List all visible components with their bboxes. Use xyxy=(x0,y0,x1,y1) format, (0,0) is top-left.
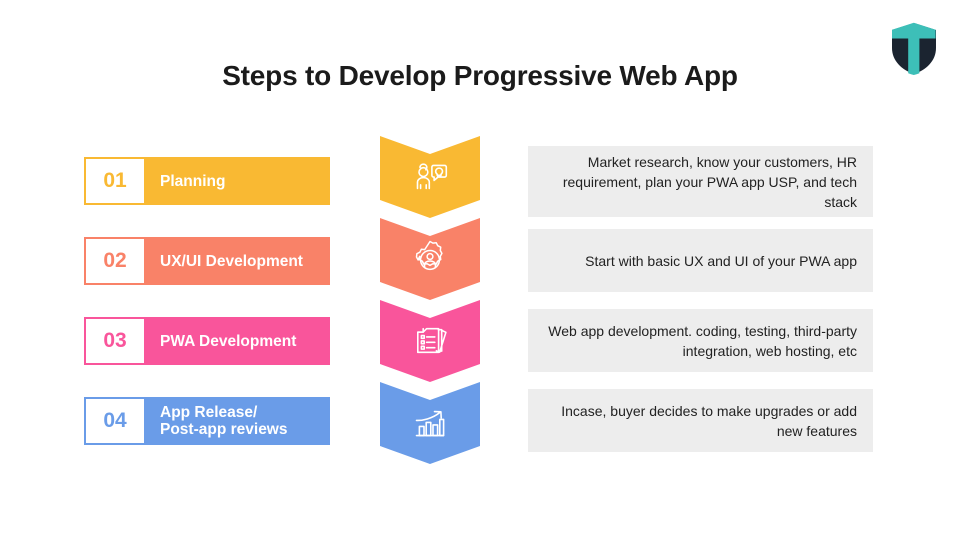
description-panel-2: Start with basic UX and UI of your PWA a… xyxy=(528,229,873,292)
step-label-1-line-1: Planning xyxy=(160,173,225,190)
step-card-1[interactable]: 01 Planning xyxy=(84,157,330,205)
step-number-box-2: 02 xyxy=(84,237,146,285)
step-card-3[interactable]: 03 PWA Development xyxy=(84,317,330,365)
chevron-step-3 xyxy=(380,300,480,382)
description-text-2: Start with basic UX and UI of your PWA a… xyxy=(585,251,857,271)
step-number-3: 03 xyxy=(103,329,126,353)
step-label-box-1: Planning xyxy=(146,157,330,205)
step-number-box-4: 04 xyxy=(84,397,146,445)
step-number-1: 01 xyxy=(103,169,126,193)
description-panel-1: Market research, know your customers, HR… xyxy=(528,146,873,217)
step-label-box-3: PWA Development xyxy=(146,317,330,365)
description-panel-4: Incase, buyer decides to make upgrades o… xyxy=(528,389,873,452)
step-number-box-1: 01 xyxy=(84,157,146,205)
person-gear-icon xyxy=(407,237,453,283)
step-label-4-line-2: Post-app reviews xyxy=(160,421,288,438)
description-text-1: Market research, know your customers, HR… xyxy=(544,152,857,212)
description-panel-3: Web app development. coding, testing, th… xyxy=(528,309,873,372)
description-text-4: Incase, buyer decides to make upgrades o… xyxy=(544,401,857,441)
step-card-2[interactable]: 02 UX/UI Development xyxy=(84,237,330,285)
step-label-box-4: App Release/ Post-app reviews xyxy=(146,397,330,445)
step-number-4: 04 xyxy=(103,409,126,433)
checklist-documents-icon xyxy=(407,319,453,365)
person-idea-icon xyxy=(407,155,453,201)
step-label-3-line-1: PWA Development xyxy=(160,333,296,350)
chevron-step-1 xyxy=(380,136,480,218)
chevron-ribbon xyxy=(380,136,480,460)
step-number-2: 02 xyxy=(103,249,126,273)
chevron-step-2 xyxy=(380,218,480,300)
step-label-2-line-1: UX/UI Development xyxy=(160,253,303,270)
slide-canvas: Steps to Develop Progressive Web App 01 … xyxy=(0,0,960,540)
chevron-step-4 xyxy=(380,382,480,464)
description-text-3: Web app development. coding, testing, th… xyxy=(544,321,857,361)
step-label-box-2: UX/UI Development xyxy=(146,237,330,285)
step-card-4[interactable]: 04 App Release/ Post-app reviews xyxy=(84,397,330,445)
step-number-box-3: 03 xyxy=(84,317,146,365)
page-title: Steps to Develop Progressive Web App xyxy=(0,60,960,92)
growth-bar-chart-icon xyxy=(407,401,453,447)
step-label-4-line-1: App Release/ xyxy=(160,404,288,421)
